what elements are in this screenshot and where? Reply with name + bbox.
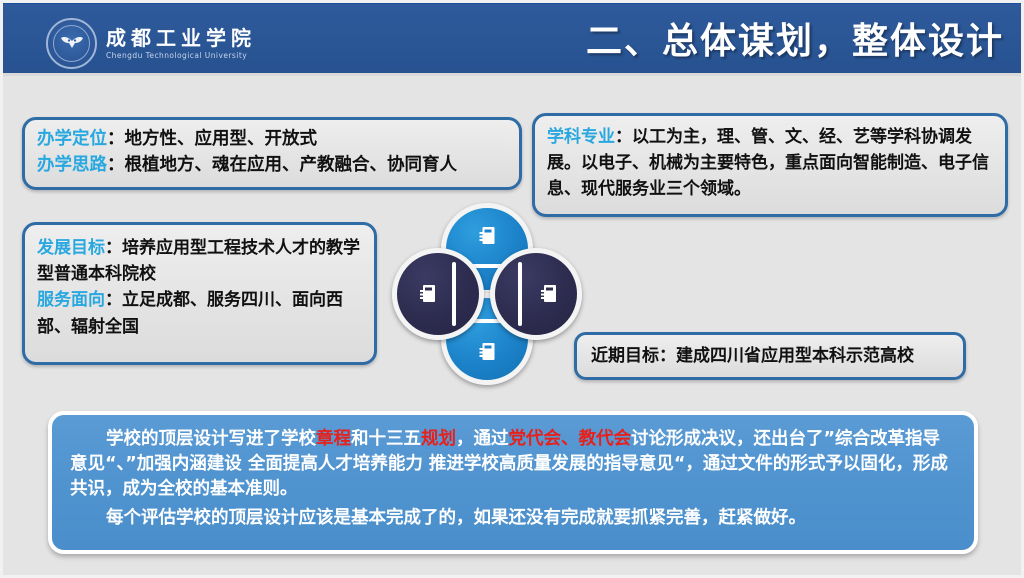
document-icon — [419, 284, 436, 304]
card-near-term-goal: 近期目标：建成四川省应用型本科示范高校 — [574, 332, 966, 380]
card-disciplines-majors: 学科专业：以工为主，理、管、文、经、艺等学科协调发展。以电子、机械为主要特色，重… — [532, 113, 1008, 217]
positioning-text-1: 地方性、应用型、开放式 — [125, 129, 318, 149]
bottom-highlight-plan: 规划 — [421, 429, 456, 449]
positioning-sep-1: ： — [107, 129, 125, 149]
logo-chinese-name: 成都工业学院 — [106, 28, 256, 48]
card-development-goal: 发展目标：培养应用型工程技术人才的教学型普通本科院校 服务面向：立足成都、服务四… — [22, 222, 377, 365]
goal-sep-1: ： — [105, 238, 122, 258]
petal-right[interactable] — [490, 248, 582, 340]
near-term-sep: ： — [659, 346, 676, 366]
logo-english-name: Chengdu Technological University — [106, 52, 256, 60]
bottom-seg-3: ，通过 — [456, 429, 509, 449]
bottom-seg-1: 学校的顶层设计写进了学校 — [106, 429, 316, 449]
bottom-highlight-charter: 章程 — [316, 429, 351, 449]
near-term-text: 建成四川省应用型本科示范高校 — [676, 346, 914, 366]
card-school-positioning: 办学定位：地方性、应用型、开放式 办学思路：根植地方、魂在应用、产教融合、协同育… — [22, 117, 522, 190]
positioning-text-2: 根植地方、魂在应用、产教融合、协同育人 — [125, 155, 458, 175]
goal-line-2: 服务面向：立足成都、服务四川、面向西部、辐射全国 — [37, 287, 362, 339]
bull-head-glyph — [59, 35, 85, 53]
four-petal-diagram — [392, 203, 582, 385]
document-icon — [479, 342, 496, 362]
goal-label-2: 服务面向 — [37, 290, 105, 310]
university-seal-icon — [46, 18, 97, 69]
near-term-label: 近期目标 — [591, 346, 659, 366]
slide-canvas: 成都工业学院 Chengdu Technological University … — [0, 0, 1024, 578]
bottom-paragraph-1: 学校的顶层设计写进了学校章程和十三五规划，通过党代会、教代会讨论形成决议，还出台… — [70, 427, 956, 502]
document-icon — [540, 284, 557, 304]
bottom-summary-banner: 学校的顶层设计写进了学校章程和十三五规划，通过党代会、教代会讨论形成决议，还出台… — [48, 411, 978, 554]
positioning-label-2: 办学思路 — [37, 155, 107, 175]
petal-left[interactable] — [392, 248, 484, 340]
positioning-label-1: 办学定位 — [37, 129, 107, 149]
petal-right-divider — [518, 262, 522, 326]
goal-sep-2: ： — [105, 290, 122, 310]
slide-title: 二、总体谋划，整体设计 — [586, 12, 1004, 64]
positioning-line-1: 办学定位：地方性、应用型、开放式 — [37, 127, 507, 153]
petal-left-divider — [452, 262, 456, 326]
goal-line-1: 发展目标：培养应用型工程技术人才的教学型普通本科院校 — [37, 235, 362, 287]
disciplines-sep: ： — [615, 127, 632, 147]
goal-label-1: 发展目标 — [37, 238, 105, 258]
bottom-paragraph-2: 每个评估学校的顶层设计应该是基本完成了的，如果还没有完成就要抓紧完善，赶紧做好。 — [70, 506, 956, 531]
disciplines-paragraph: 学科专业：以工为主，理、管、文、经、艺等学科协调发展。以电子、机械为主要特色，重… — [547, 125, 993, 202]
positioning-line-2: 办学思路：根植地方、魂在应用、产教融合、协同育人 — [37, 153, 507, 179]
document-icon — [479, 226, 496, 246]
bottom-seg-2: 和十三五 — [351, 429, 421, 449]
bottom-highlight-congress: 党代会、教代会 — [509, 429, 632, 449]
disciplines-label: 学科专业 — [547, 127, 615, 147]
university-logo: 成都工业学院 Chengdu Technological University — [46, 18, 256, 69]
near-term-line: 近期目标：建成四川省应用型本科示范高校 — [591, 344, 914, 369]
slide-header: 成都工业学院 Chengdu Technological University … — [0, 0, 1024, 76]
positioning-sep-2: ： — [107, 155, 125, 175]
